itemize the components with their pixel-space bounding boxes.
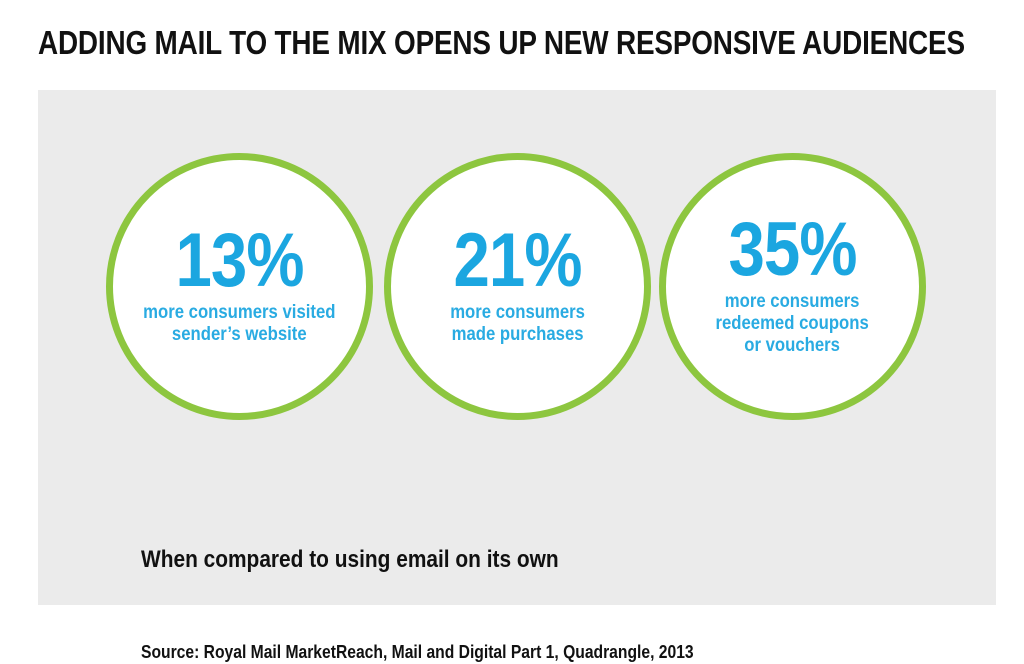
stat-value-3: 35% (728, 217, 856, 283)
stat-circle-3: 35% more consumers redeemed coupons or v… (659, 153, 926, 420)
stat-label-1-line1: more consumers visited (143, 302, 335, 324)
content-panel: 13% more consumers visited sender’s webs… (38, 90, 996, 605)
stat-label-2-line1: more consumers (450, 302, 585, 324)
stat-label-3-line3: or vouchers (716, 335, 869, 357)
stat-value-1: 13% (175, 228, 303, 294)
stat-label-3-line1: more consumers (716, 291, 869, 313)
stat-label-1: more consumers visited sender’s website (143, 302, 335, 346)
stat-circle-group: 13% more consumers visited sender’s webs… (38, 90, 996, 605)
stat-label-1-line2: sender’s website (143, 324, 335, 346)
comparison-caption: When compared to using email on its own (141, 545, 559, 575)
stat-label-3-line2: redeemed coupons (716, 313, 869, 335)
stat-label-2-line2: made purchases (450, 324, 585, 346)
stat-label-2: more consumers made purchases (450, 302, 585, 346)
stat-label-3: more consumers redeemed coupons or vouch… (716, 291, 869, 357)
stat-value-2: 21% (453, 228, 581, 294)
stat-circle-2: 21% more consumers made purchases (384, 153, 651, 420)
page-title: ADDING MAIL TO THE MIX OPENS UP NEW RESP… (38, 24, 849, 62)
stat-circle-1: 13% more consumers visited sender’s webs… (106, 153, 373, 420)
infographic-page: { "title": "ADDING MAIL TO THE MIX OPENS… (0, 0, 1024, 628)
source-citation: Source: Royal Mail MarketReach, Mail and… (141, 640, 694, 664)
